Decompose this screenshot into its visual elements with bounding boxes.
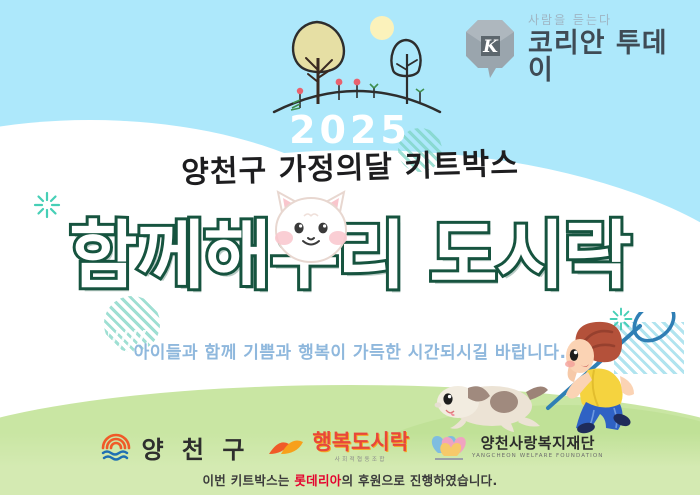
footer-logo-row: 양 천 구 행복도시락 사회적협동조합 양천사랑복지재단 YANGCHEON W… bbox=[0, 427, 700, 467]
sponsor-prefix: 이번 키트박스는 bbox=[202, 473, 294, 488]
logo-yangcheon-gu: 양 천 구 bbox=[96, 427, 249, 467]
logo-happy-dosirak-sub: 사회적협동조합 bbox=[335, 455, 387, 463]
sponsor-suffix: 의 후원으로 진행하였습니다. bbox=[342, 473, 498, 488]
logo-happy-dosirak: 행복도시락 사회적협동조합 bbox=[267, 432, 409, 463]
poster-canvas: K 사람을 듣는다 코리안 투데이 2025 양천구 가정의달 키트박스 함께해… bbox=[0, 0, 700, 495]
logo-yangcheon-gu-label: 양 천 구 bbox=[141, 430, 249, 465]
logo-yangcheon-welfare: 양천사랑복지재단 YANGCHEON WELFARE FOUNDATION bbox=[427, 431, 604, 463]
white-cat-mascot-icon bbox=[268, 186, 354, 266]
logo-happy-dosirak-label: 행복도시락 bbox=[312, 432, 409, 453]
press-name: 코리안 투데이 bbox=[528, 30, 692, 84]
sponsor-note: 이번 키트박스는 롯데리아의 후원으로 진행하였습니다. bbox=[0, 470, 700, 489]
logo-yangcheon-welfare-sub: YANGCHEON WELFARE FOUNDATION bbox=[472, 453, 604, 459]
happy-dosirak-ribbon-icon bbox=[267, 432, 307, 462]
trees-hill-sun-illustration bbox=[262, 8, 452, 120]
korean-today-mark-icon: K bbox=[462, 18, 518, 80]
logo-yangcheon-welfare-label: 양천사랑복지재단 bbox=[481, 435, 595, 452]
svg-text:K: K bbox=[482, 37, 499, 57]
press-logo: K 사람을 듣는다 코리안 투데이 bbox=[462, 14, 692, 84]
three-hearts-icon bbox=[427, 431, 467, 463]
boy-running-with-net-illustration bbox=[536, 312, 686, 434]
sponsor-brand: 롯데리아 bbox=[294, 473, 341, 488]
sun-wave-emblem-icon bbox=[96, 427, 136, 467]
press-tagline: 사람을 듣는다 bbox=[528, 14, 692, 26]
